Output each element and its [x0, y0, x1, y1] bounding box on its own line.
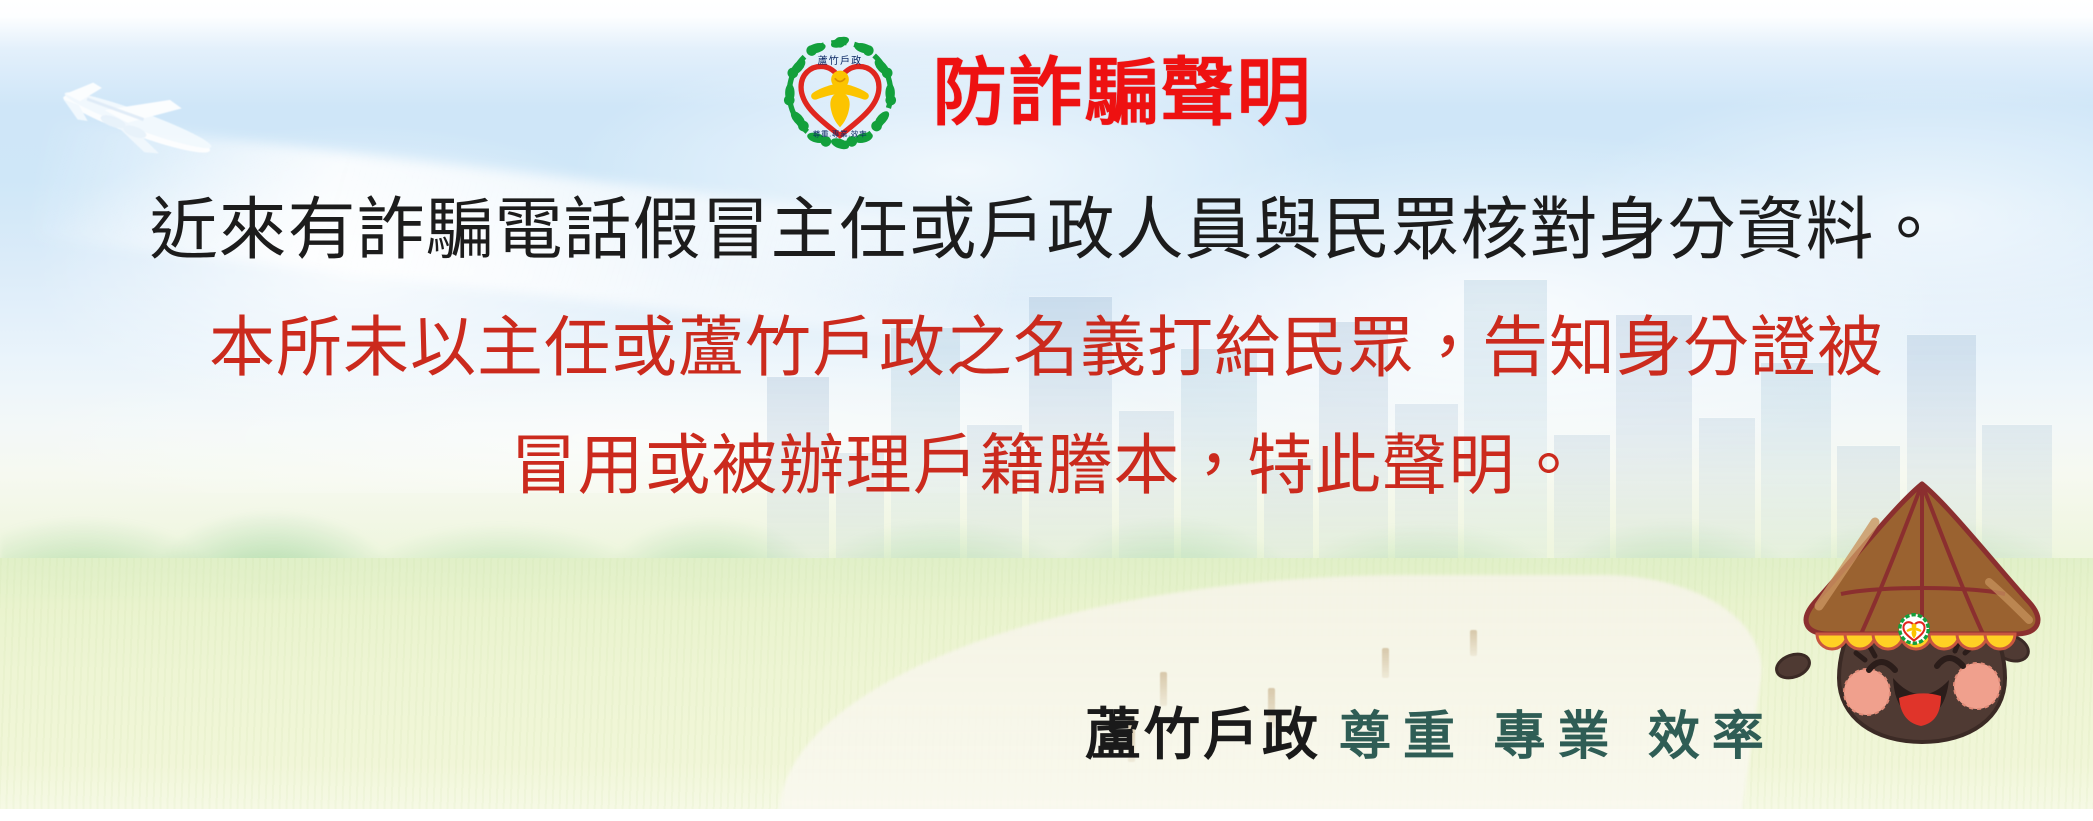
office-name-label: 蘆竹戶政	[1085, 690, 1321, 771]
statement-line-1: 近來有詐騙電話假冒主任或戶政人員與民眾核對身分資料。	[0, 196, 2093, 264]
office-emblem-icon: 蘆竹戶政 尊重.專業.效率	[781, 34, 899, 152]
anti-fraud-statement-banner: 蘆竹戶政 尊重.專業.效率 防詐騙聲明 近來有詐騙電話假冒主任或戶政人員與民眾核…	[0, 0, 2093, 821]
mascot-hat-emblem-icon	[1899, 614, 1929, 644]
path-post	[1382, 648, 1389, 678]
office-values-label: 尊重 專業 效率	[1339, 694, 1776, 769]
footer-slogan: 蘆竹戶政 尊重 專業 效率	[1085, 690, 1776, 771]
bamboo-shoot-mascot-icon	[1757, 470, 2087, 800]
banner-header: 蘆竹戶政 尊重.專業.效率 防詐騙聲明	[0, 34, 2093, 152]
statement-line-2: 本所未以主任或蘆竹戶政之名義打給民眾，告知身分證被	[0, 316, 2093, 382]
page-title: 防詐騙聲明	[933, 56, 1313, 130]
svg-text:蘆竹戶政: 蘆竹戶政	[817, 54, 862, 67]
svg-text:尊重.專業.效率: 尊重.專業.效率	[812, 129, 867, 139]
path-post	[1470, 630, 1477, 656]
bottom-white-strip	[0, 809, 2093, 821]
statement-body: 近來有詐騙電話假冒主任或戶政人員與民眾核對身分資料。 本所未以主任或蘆竹戶政之名…	[0, 196, 2093, 500]
